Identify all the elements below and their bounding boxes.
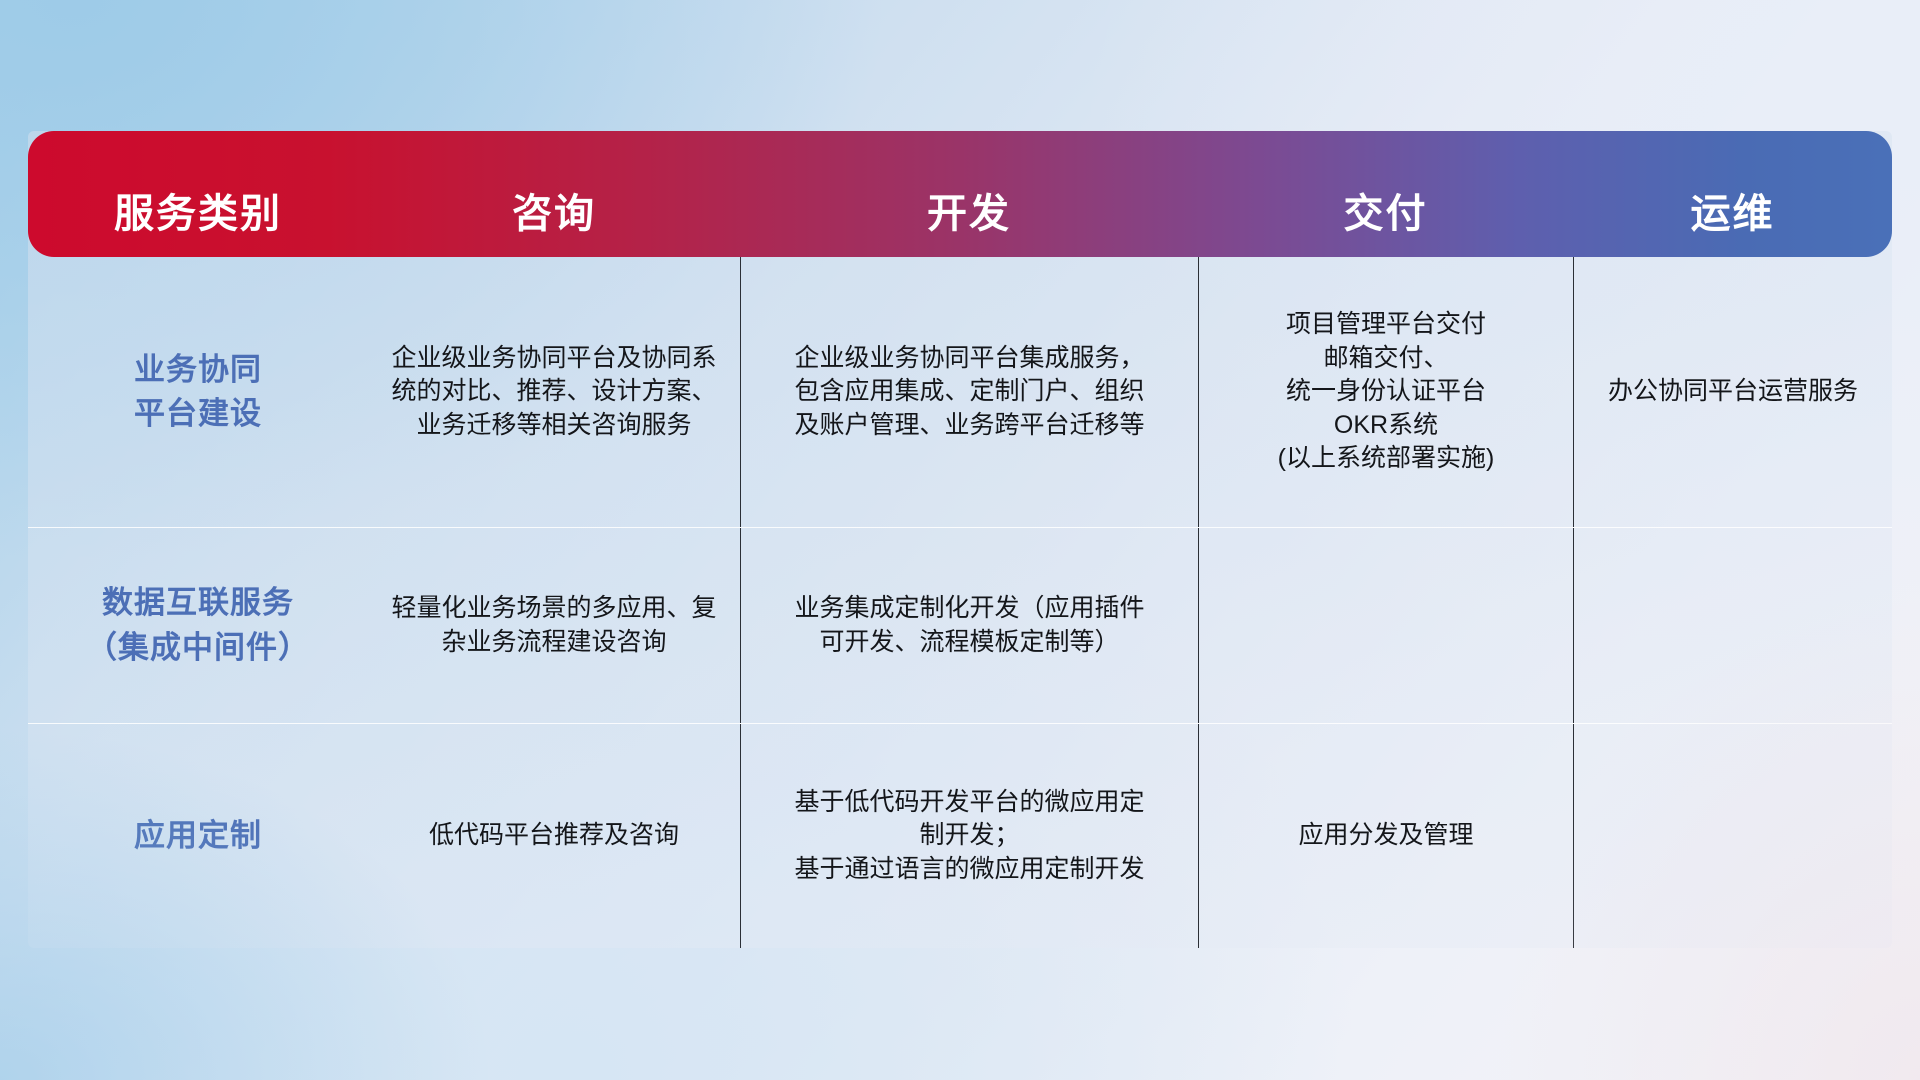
- cell-development: 业务集成定制化开发（应用插件 可开发、流程模板定制等）: [740, 528, 1198, 723]
- cell-consulting: 低代码平台推荐及咨询: [368, 724, 740, 948]
- cell-consulting: 企业级业务协同平台及协同系 统的对比、推荐、设计方案、 业务迁移等相关咨询服务: [368, 257, 740, 527]
- cell-operations: [1573, 724, 1892, 948]
- cell-delivery: [1198, 528, 1573, 723]
- table-header-row: 服务类别咨询开发交付运维: [28, 131, 1892, 257]
- table-body: 业务协同 平台建设企业级业务协同平台及协同系 统的对比、推荐、设计方案、 业务迁…: [28, 257, 1892, 948]
- cell-operations: 办公协同平台运营服务: [1573, 257, 1892, 527]
- column-header-delivery: 交付: [1198, 181, 1573, 257]
- row-category-category: 数据互联服务 （集成中间件）: [28, 528, 368, 723]
- row-category-category: 应用定制: [28, 724, 368, 948]
- cell-delivery: 项目管理平台交付 邮箱交付、 统一身份认证平台 OKR系统 (以上系统部署实施): [1198, 257, 1573, 527]
- cell-operations: [1573, 528, 1892, 723]
- column-header-category: 服务类别: [28, 181, 368, 257]
- column-header-development: 开发: [740, 181, 1198, 257]
- service-matrix-table: 服务类别咨询开发交付运维 业务协同 平台建设企业级业务协同平台及协同系 统的对比…: [28, 131, 1892, 948]
- slide-canvas: 服务类别咨询开发交付运维 业务协同 平台建设企业级业务协同平台及协同系 统的对比…: [0, 0, 1920, 1080]
- cell-delivery: 应用分发及管理: [1198, 724, 1573, 948]
- column-header-consulting: 咨询: [368, 181, 740, 257]
- table-row: 数据互联服务 （集成中间件）轻量化业务场景的多应用、复 杂业务流程建设咨询业务集…: [28, 527, 1892, 723]
- table-row: 应用定制低代码平台推荐及咨询基于低代码开发平台的微应用定 制开发； 基于通过语言…: [28, 723, 1892, 948]
- column-header-operations: 运维: [1573, 181, 1892, 257]
- cell-development: 企业级业务协同平台集成服务， 包含应用集成、定制门户、组织 及账户管理、业务跨平…: [740, 257, 1198, 527]
- cell-development: 基于低代码开发平台的微应用定 制开发； 基于通过语言的微应用定制开发: [740, 724, 1198, 948]
- cell-consulting: 轻量化业务场景的多应用、复 杂业务流程建设咨询: [368, 528, 740, 723]
- table-row: 业务协同 平台建设企业级业务协同平台及协同系 统的对比、推荐、设计方案、 业务迁…: [28, 257, 1892, 527]
- row-category-category: 业务协同 平台建设: [28, 257, 368, 527]
